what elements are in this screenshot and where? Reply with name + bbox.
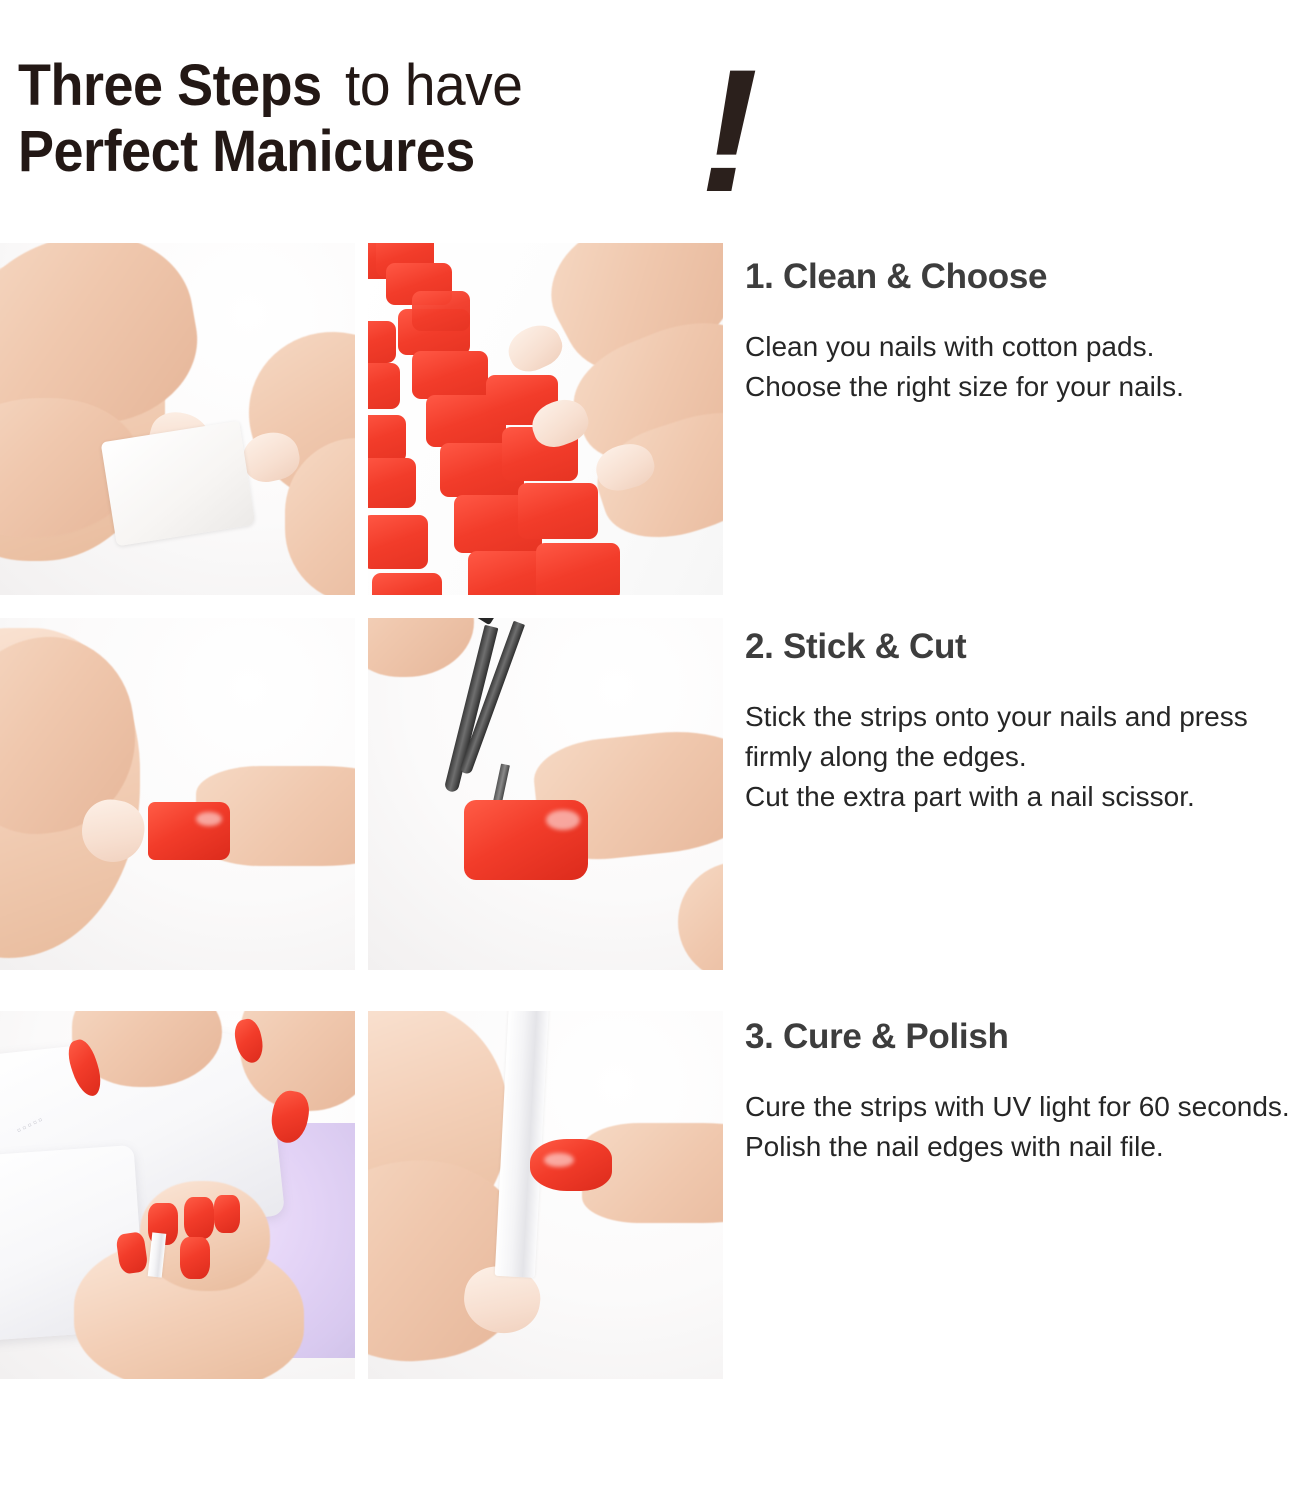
step-3-heading: 3. Cure & Polish (745, 1018, 1300, 1057)
step-2-body: Stick the strips onto your nails and pre… (745, 697, 1300, 818)
photo-cleaning-nail-with-cotton-pad (0, 243, 355, 595)
red-nail (180, 1237, 210, 1279)
nail-strip (412, 291, 470, 331)
step-3-line-1: Cure the strips with UV light for 60 sec… (745, 1087, 1300, 1127)
photo-cutting-extra-strip-with-scissor (368, 618, 723, 970)
red-nail (214, 1195, 240, 1233)
applied-red-strip (148, 802, 230, 860)
step-2: 2. Stick & Cut Stick the strips onto you… (745, 628, 1300, 817)
nail-highlight (544, 1153, 574, 1167)
nail-strip (368, 515, 428, 569)
nail-highlight (546, 810, 580, 830)
title-line2-strong: Perfect Manicures (18, 124, 475, 181)
step-1-line-2: Choose the right size for your nails. (745, 367, 1300, 407)
nail-strip (536, 543, 620, 595)
step-1-heading: 1. Clean & Choose (745, 258, 1300, 297)
photo-polishing-nail-edge-with-file (368, 1011, 723, 1379)
step-1-line-1: Clean you nails with cotton pads. (745, 327, 1300, 367)
nail-strip (372, 573, 442, 595)
step-3: 3. Cure & Polish Cure the strips with UV… (745, 1018, 1300, 1167)
red-nail (184, 1197, 214, 1239)
step-2-line-2: Cut the extra part with a nail scissor. (745, 777, 1300, 817)
photo-red-nail-strip-sheet-sizing (368, 243, 723, 595)
nail-strip (368, 321, 396, 363)
photo-curing-nails-under-uv-lamp: ▫▫▫▫▫ (0, 1011, 355, 1379)
nail-strip (368, 415, 406, 463)
nail-strip (368, 458, 416, 508)
step-1: 1. Clean & Choose Clean you nails with c… (745, 258, 1300, 407)
cotton-pad (101, 421, 256, 547)
strip-highlight (196, 812, 222, 826)
step-2-heading: 2. Stick & Cut (745, 628, 1300, 667)
step-3-body: Cure the strips with UV light for 60 sec… (745, 1087, 1300, 1168)
exclamation-mark: ! (700, 64, 758, 201)
step-3-line-2: Polish the nail edges with nail file. (745, 1127, 1300, 1167)
step-1-body: Clean you nails with cotton pads. Choose… (745, 327, 1300, 408)
red-nail (530, 1139, 612, 1191)
page-title: Three Steps to have Perfect Manicures (18, 58, 818, 218)
photo-sticking-strip-onto-nail (0, 618, 355, 970)
nail-strip (518, 483, 598, 539)
title-line1-strong: Three Steps (18, 58, 322, 115)
step-2-line-1: Stick the strips onto your nails and pre… (745, 697, 1300, 778)
nail-strip (368, 363, 400, 409)
nail-strip (412, 351, 488, 399)
title-line1-light: to have (345, 58, 522, 115)
